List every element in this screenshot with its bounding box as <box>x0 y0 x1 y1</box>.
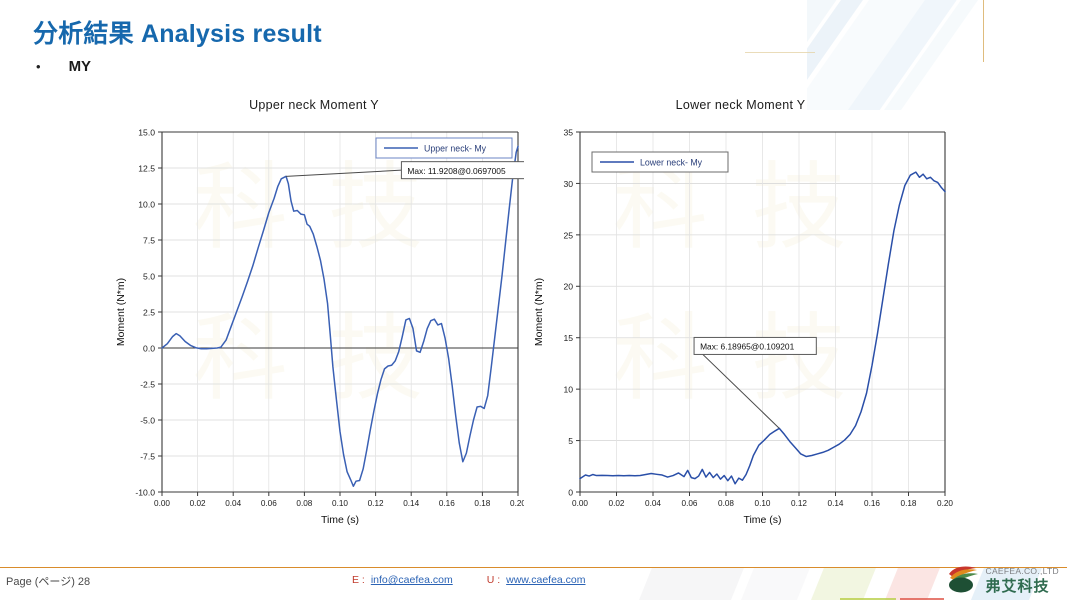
annotation-label: Max: 6.18965@0.109201 <box>700 342 795 352</box>
email-link[interactable]: info@caefea.com <box>371 574 453 586</box>
y-tick-label: 25 <box>563 230 573 240</box>
y-tick-label: -2.5 <box>140 379 155 389</box>
y-tick-label: 0.0 <box>143 343 155 353</box>
annotation-label: Max: 11.9208@0.0697005 <box>407 166 506 176</box>
chart-lower-neck-moment-y: Lower neck Moment Y 科技科技353025201510500.… <box>528 96 953 546</box>
lower-neck-plot-svg: 科技科技353025201510500.000.020.040.060.080.… <box>528 120 953 546</box>
x-axis-label: Time (s) <box>321 514 359 526</box>
x-tick-label: 0.18 <box>474 499 490 508</box>
chart-upper-neck-moment-y: Upper neck Moment Y 科技科技15.012.510.07.55… <box>104 96 524 546</box>
y-axis-label: Moment (N*m) <box>115 278 127 346</box>
x-tick-label: 0.16 <box>439 499 455 508</box>
x-tick-label: 0.00 <box>572 499 588 508</box>
chart-legend[interactable]: Lower neck- My <box>592 152 728 172</box>
chart-plot-area: 科技科技353025201510500.000.020.040.060.080.… <box>528 120 953 546</box>
url-label: U : <box>487 574 500 586</box>
y-axis-ticks: 15.012.510.07.55.02.50.0-2.5-5.0-7.5-10.… <box>135 127 162 497</box>
chart-title: Upper neck Moment Y <box>104 96 524 114</box>
y-tick-label: 7.5 <box>143 235 155 245</box>
email-label: E : <box>352 574 365 586</box>
y-tick-label: -5.0 <box>140 415 155 425</box>
x-axis-ticks: 0.000.020.040.060.080.100.120.140.160.18… <box>572 492 953 508</box>
legend-entry-label: Upper neck- My <box>424 143 487 153</box>
company-logo: CAEFEA.CO.,LTD 弗艾科技 <box>946 562 1059 596</box>
y-tick-label: 10.0 <box>138 199 155 209</box>
y-axis-ticks: 35302520151050 <box>563 127 580 497</box>
chart-legend[interactable]: Upper neck- My <box>376 138 512 158</box>
x-tick-label: 0.06 <box>261 499 277 508</box>
x-tick-label: 0.12 <box>791 499 807 508</box>
watermark-glyph: 科 <box>613 304 708 414</box>
bullet-marker: • <box>36 60 41 73</box>
y-tick-label: 2.5 <box>143 307 155 317</box>
x-tick-label: 0.04 <box>225 499 241 508</box>
x-tick-label: 0.08 <box>296 499 312 508</box>
x-tick-label: 0.18 <box>901 499 917 508</box>
charts-container: Upper neck Moment Y 科技科技15.012.510.07.55… <box>0 96 1067 546</box>
y-tick-label: 20 <box>563 282 573 292</box>
x-tick-label: 0.06 <box>682 499 698 508</box>
logo-company-cn: 弗艾科技 <box>986 578 1050 595</box>
y-tick-label: -10.0 <box>135 487 155 497</box>
chart-title: Lower neck Moment Y <box>528 96 953 114</box>
chart-plot-area: 科技科技15.012.510.07.55.02.50.0-2.5-5.0-7.5… <box>104 120 524 546</box>
bullet-list: • MY <box>36 58 91 75</box>
x-tick-label: 0.02 <box>190 499 206 508</box>
footer-contact: E : info@caefea.com U : www.caefea.com <box>352 574 586 586</box>
bullet-label: MY <box>69 58 92 75</box>
y-tick-label: 12.5 <box>138 163 155 173</box>
gold-vertical-accent <box>983 0 984 62</box>
top-right-ribbon-decoration <box>807 0 1067 110</box>
logo-text: CAEFEA.CO.,LTD 弗艾科技 <box>986 562 1059 596</box>
x-tick-label: 0.08 <box>718 499 734 508</box>
page-title: 分析結果 Analysis result <box>33 14 322 50</box>
footer-divider <box>0 567 1067 568</box>
watermark-glyph: 科 <box>193 304 288 414</box>
website-link[interactable]: www.caefea.com <box>506 574 585 586</box>
x-axis-label: Time (s) <box>743 514 781 526</box>
footer-page-number: Page (ページ) 28 <box>6 573 90 589</box>
watermark: 科技科技 <box>613 153 847 414</box>
watermark: 科技科技 <box>193 153 423 414</box>
y-tick-label: 30 <box>563 179 573 189</box>
x-tick-label: 0.10 <box>755 499 771 508</box>
logo-mark-icon <box>946 564 980 594</box>
x-tick-label: 0.12 <box>368 499 384 508</box>
logo-company-en: CAEFEA.CO.,LTD <box>986 566 1059 576</box>
y-tick-label: -7.5 <box>140 451 155 461</box>
upper-neck-plot-svg: 科技科技15.012.510.07.55.02.50.0-2.5-5.0-7.5… <box>104 120 524 546</box>
y-axis-label: Moment (N*m) <box>533 278 545 346</box>
gold-horizontal-accent <box>745 52 815 53</box>
x-tick-label: 0.00 <box>154 499 170 508</box>
y-tick-label: 0 <box>568 487 573 497</box>
x-tick-label: 0.16 <box>864 499 880 508</box>
x-tick-label: 0.10 <box>332 499 348 508</box>
legend-entry-label: Lower neck- My <box>640 157 703 167</box>
x-tick-label: 0.14 <box>403 499 419 508</box>
x-axis-ticks: 0.000.020.040.060.080.100.120.140.160.18… <box>154 492 524 508</box>
y-tick-label: 10 <box>563 385 573 395</box>
y-tick-label: 15 <box>563 333 573 343</box>
y-tick-label: 35 <box>563 127 573 137</box>
y-tick-label: 15.0 <box>138 127 155 137</box>
x-tick-label: 0.20 <box>510 499 524 508</box>
x-tick-label: 0.14 <box>828 499 844 508</box>
slide-canvas: 分析結果 Analysis result • MY Upper neck Mom… <box>0 0 1067 600</box>
y-tick-label: 5.0 <box>143 271 155 281</box>
y-tick-label: 5 <box>568 436 573 446</box>
x-tick-label: 0.04 <box>645 499 661 508</box>
watermark-glyph: 科 <box>193 153 288 263</box>
x-tick-label: 0.20 <box>937 499 953 508</box>
x-tick-label: 0.02 <box>609 499 625 508</box>
